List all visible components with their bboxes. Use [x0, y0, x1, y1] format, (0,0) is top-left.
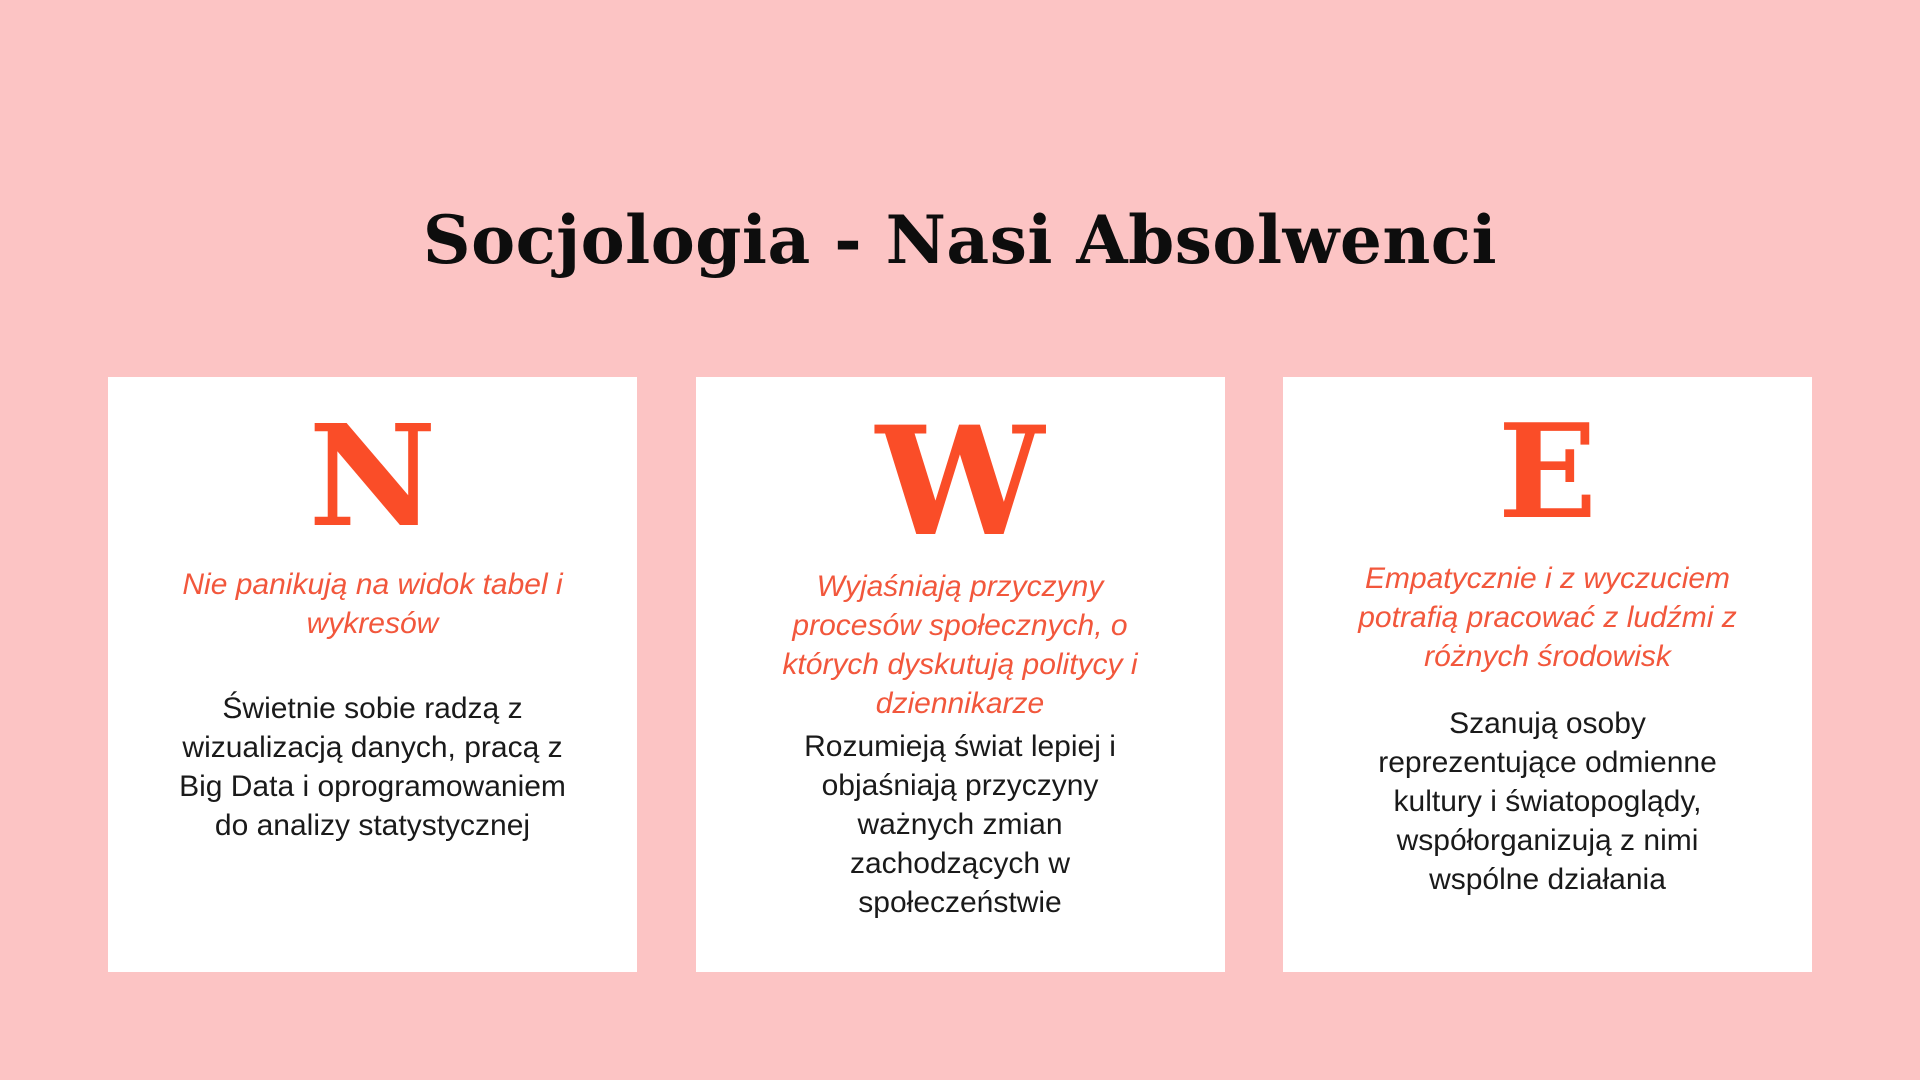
card-initial-letter: E: [1498, 407, 1597, 537]
card-initial-letter: N: [309, 407, 437, 547]
card-body-text: Rozumieją świat lepiej i objaśniają przy…: [785, 727, 1135, 922]
card-initial-letter: W: [876, 407, 1044, 557]
card-lead-text: Empatycznie i z wyczuciem potrafią praco…: [1338, 559, 1758, 676]
cards-row: N Nie panikują na widok tabel i wykresów…: [108, 377, 1812, 972]
slide-root: Socjologia - Nasi Absolwenci N Nie panik…: [0, 0, 1920, 1080]
card-body-text: Świetnie sobie radzą z wizualizacją dany…: [163, 689, 583, 845]
card-w: W Wyjaśniają przyczyny procesów społeczn…: [696, 377, 1225, 972]
card-body-text: Szanują osoby reprezentujące odmienne ku…: [1348, 704, 1748, 899]
card-lead-text: Nie panikują na widok tabel i wykresów: [168, 565, 578, 643]
card-lead-text: Wyjaśniają przyczyny procesów społecznyc…: [760, 567, 1160, 723]
page-title: Socjologia - Nasi Absolwenci: [0, 204, 1920, 277]
card-e: E Empatycznie i z wyczuciem potrafią pra…: [1283, 377, 1812, 972]
card-n: N Nie panikują na widok tabel i wykresów…: [108, 377, 637, 972]
